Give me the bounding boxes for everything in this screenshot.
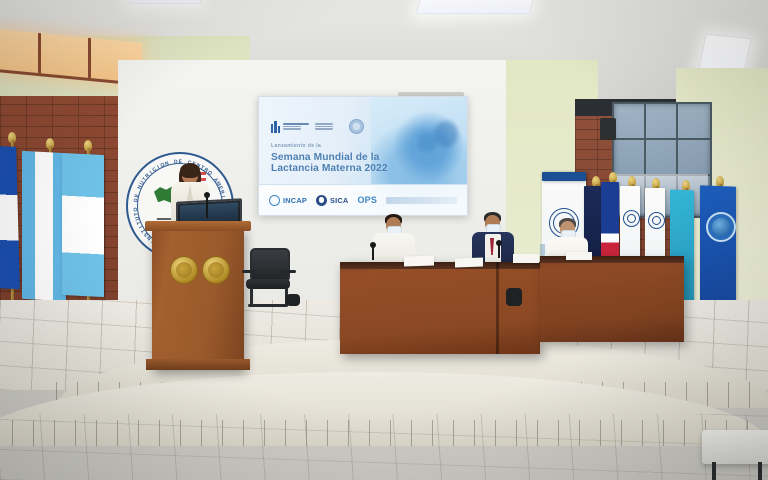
podium — [152, 228, 244, 370]
panel-table-right — [540, 256, 684, 342]
slide-title-block: Lanzamiento de la Semana Mundial de la L… — [271, 143, 388, 175]
ops-flag-globe-icon — [706, 212, 736, 242]
flag-white-top-band — [542, 172, 586, 181]
ceiling-light-panel — [126, 0, 201, 4]
document-on-table — [455, 258, 483, 268]
flag-ops — [700, 185, 736, 304]
sica-logo: SICA — [316, 195, 348, 206]
document-on-table — [404, 255, 434, 266]
flag-seal-icon — [648, 212, 665, 229]
water-bottle — [540, 244, 545, 256]
folding-table — [702, 430, 768, 464]
podium-microphone — [206, 196, 208, 218]
projection-screen: Lanzamiento de la Semana Mundial de la L… — [258, 96, 468, 216]
ceiling-light-panel — [415, 0, 534, 14]
gobierno-logo — [271, 121, 333, 133]
flag-honduras — [62, 153, 104, 297]
slide-kicker: Lanzamiento de la — [271, 143, 388, 149]
podium-emblem-icon — [202, 256, 230, 284]
wall-speaker-icon — [600, 118, 616, 140]
slide-footer-logos: INCAP SICA OPS — [259, 184, 467, 215]
document-on-table — [566, 252, 592, 260]
onu-logo — [349, 119, 364, 134]
ops-oms-logo: OPS — [357, 195, 377, 205]
slide-title-line2: Lactancia Materna 2022 — [271, 163, 388, 175]
document-on-table — [513, 254, 539, 263]
table-microphone — [498, 244, 500, 258]
slide-footer-ghost-text — [386, 197, 457, 204]
podium-emblem-icon — [170, 256, 198, 284]
slide-top-logos — [271, 119, 364, 134]
presentation-slide: Lanzamiento de la Semana Mundial de la L… — [259, 97, 467, 215]
table-microphone — [372, 246, 374, 260]
incap-logo: INCAP — [269, 195, 307, 206]
flag-seal-icon — [623, 210, 640, 227]
stacked-chair — [506, 288, 522, 306]
slide-title-line1: Semana Mundial de la — [271, 152, 388, 164]
stacked-chair — [286, 294, 300, 306]
flag-guatemala — [22, 151, 66, 301]
conference-room-photo: Lanzamiento de la Semana Mundial de la L… — [0, 0, 768, 480]
panel-table-left — [340, 262, 540, 354]
auditorium-floor — [0, 414, 768, 480]
